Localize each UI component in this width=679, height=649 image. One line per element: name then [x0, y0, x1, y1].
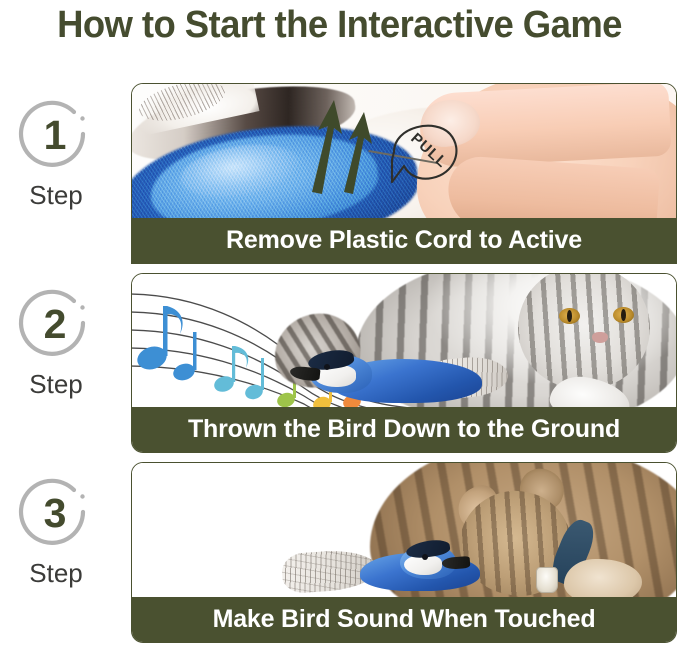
- step-number-badge-1: 1: [17, 98, 93, 174]
- step-number-3: 3: [17, 476, 93, 552]
- bird-beak: [289, 365, 320, 381]
- step-row-2: 2 Step: [0, 259, 679, 449]
- step-indicator-1: 1 Step: [0, 70, 128, 260]
- step-label-1: Step: [0, 180, 112, 210]
- cat-head: [518, 274, 650, 388]
- step-caption-1: Remove Plastic Cord to Active: [132, 218, 676, 263]
- step-row-3: 3 Step: [0, 448, 679, 649]
- step-caption-3: Make Bird Sound When Touched: [132, 597, 676, 642]
- page-title: How to Start the Interactive Game: [14, 2, 666, 48]
- infographic-page: How to Start the Interactive Game 1 Step: [0, 0, 679, 649]
- step-label-2: Step: [0, 369, 112, 399]
- step-caption-2: Thrown the Bird Down to the Ground: [132, 407, 676, 452]
- step-number-badge-3: 3: [17, 476, 93, 552]
- pull-tag-icon: PULL: [374, 108, 466, 194]
- step-number-2: 2: [17, 287, 93, 363]
- bird-eye: [324, 364, 330, 370]
- step-photo-3: [132, 463, 676, 597]
- step-indicator-3: 3 Step: [0, 448, 128, 638]
- step-photo-1: PULL: [132, 84, 676, 219]
- step-number-1: 1: [17, 98, 93, 174]
- pull-tag-text: PULL: [407, 130, 450, 172]
- cat-collar-tag: [536, 567, 558, 593]
- step-panel-3: Make Bird Sound When Touched: [131, 462, 677, 643]
- cat-nose: [592, 332, 608, 343]
- bird-toy: [284, 351, 498, 407]
- step-panel-1: PULL Remove Plastic Cord to Active: [131, 83, 677, 264]
- bird-toy: [282, 541, 512, 597]
- bird-eye: [422, 554, 428, 560]
- cat-eye-left: [559, 308, 580, 324]
- step-indicator-2: 2 Step: [0, 259, 128, 449]
- step-label-3: Step: [0, 558, 112, 588]
- cat-eye-right: [613, 307, 634, 323]
- step-number-badge-2: 2: [17, 287, 93, 363]
- step-panel-2: Thrown the Bird Down to the Ground: [131, 273, 677, 453]
- step-photo-2: [132, 274, 676, 407]
- step-row-1: 1 Step: [0, 70, 679, 260]
